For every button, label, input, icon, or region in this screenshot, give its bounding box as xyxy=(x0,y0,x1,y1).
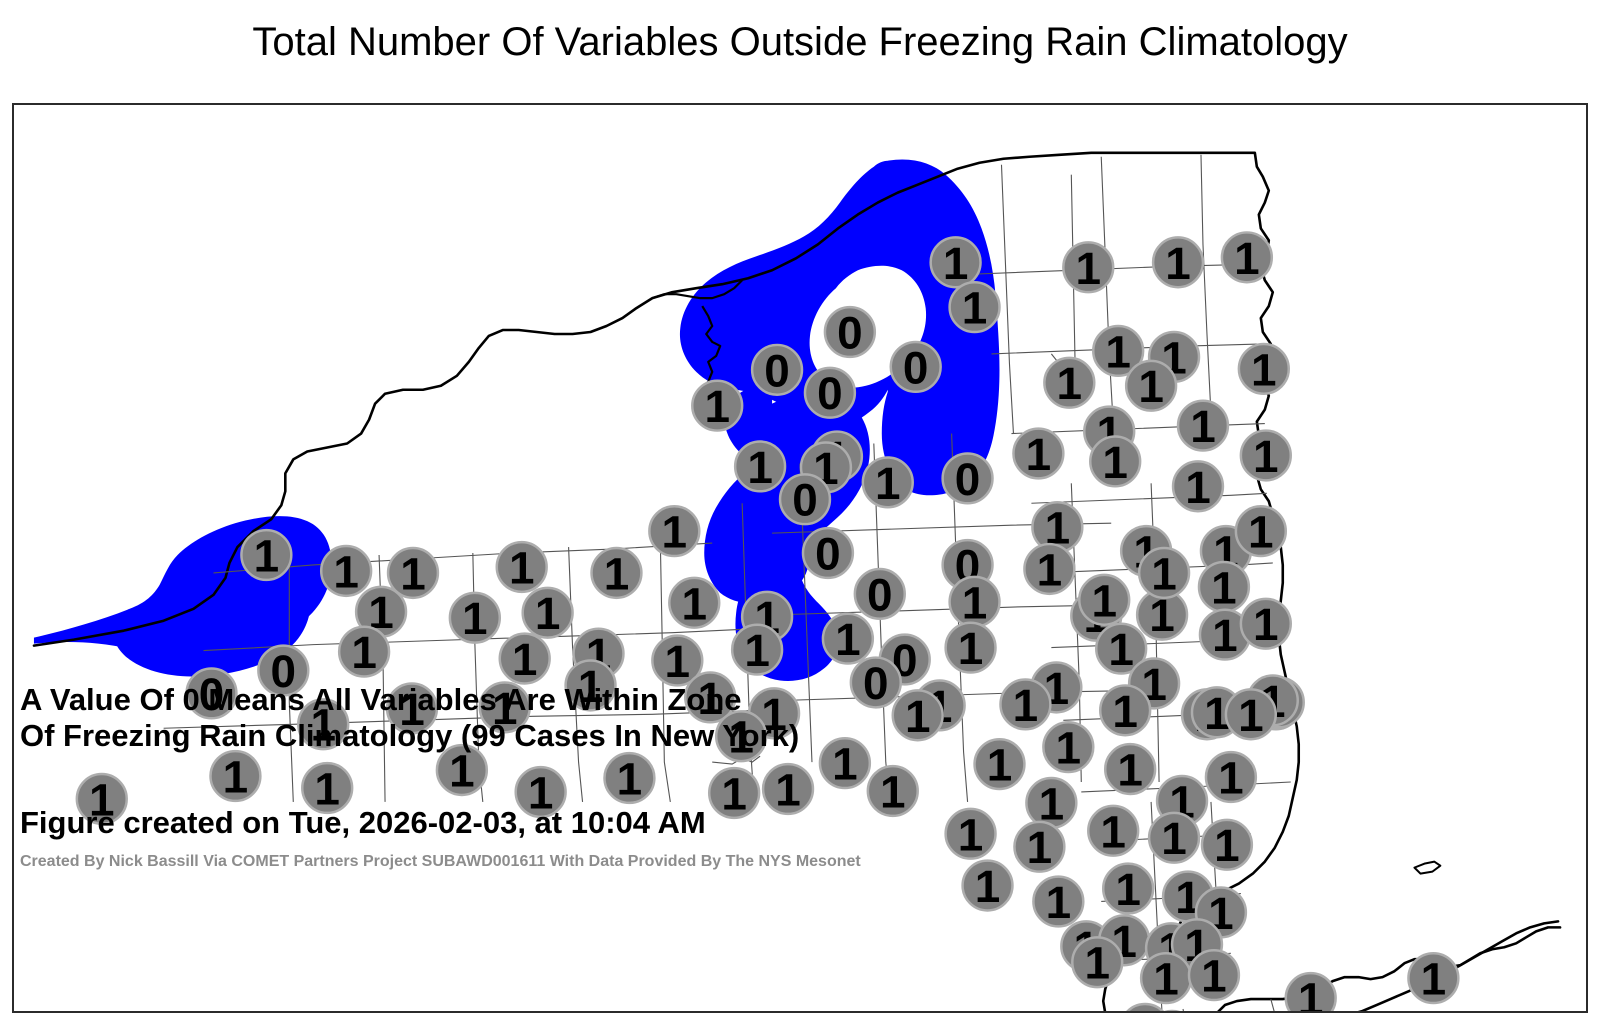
station-marker-circle xyxy=(805,368,855,418)
station-marker-circle xyxy=(1226,689,1276,739)
station-marker: 1 xyxy=(1206,752,1256,803)
station-marker-circle xyxy=(1088,806,1138,856)
station-marker-circle xyxy=(1100,685,1150,735)
station-marker-circle xyxy=(1013,429,1063,479)
station-marker-circle xyxy=(851,658,901,708)
station-marker-circle xyxy=(1063,242,1113,292)
station-marker: 1 xyxy=(732,625,782,676)
station-marker: 1 xyxy=(1014,822,1064,873)
station-marker: 1 xyxy=(823,614,873,665)
station-marker-circle xyxy=(931,237,981,287)
station-marker-circle xyxy=(891,342,941,392)
station-marker: 1 xyxy=(1126,361,1176,412)
station-marker-circle xyxy=(1014,822,1064,872)
station-marker-circle xyxy=(339,627,389,677)
station-marker-circle xyxy=(604,753,654,803)
station-marker: 0 xyxy=(855,569,905,620)
station-marker-circle xyxy=(950,577,1000,627)
station-marker: 1 xyxy=(1236,506,1286,557)
station-marker-circle xyxy=(321,546,371,596)
station-marker: 0 xyxy=(805,368,855,419)
station-marker-circle xyxy=(946,809,996,859)
station-marker-circle xyxy=(1236,506,1286,556)
station-marker-circle xyxy=(1090,437,1140,487)
legend-note-line-1: A Value Of 0 Means All Variables Are Wit… xyxy=(20,682,742,719)
credit-attribution: Created By Nick Bassill Via COMET Partne… xyxy=(20,853,861,871)
station-marker: 1 xyxy=(1153,237,1203,288)
page-title: Total Number Of Variables Outside Freezi… xyxy=(0,20,1600,65)
station-marker: 1 xyxy=(497,542,547,593)
station-marker: 1 xyxy=(868,766,918,817)
station-marker-circle xyxy=(863,457,913,507)
station-marker: 1 xyxy=(950,577,1000,628)
station-marker: 1 xyxy=(1241,599,1291,650)
station-marker-circle xyxy=(950,282,1000,332)
station-marker: 1 xyxy=(450,593,500,644)
station-marker: 1 xyxy=(975,739,1025,790)
station-marker-circle xyxy=(1199,562,1249,612)
station-marker-circle xyxy=(1126,361,1176,411)
station-marker-circle xyxy=(780,474,830,524)
station-marker-circle xyxy=(1044,358,1094,408)
station-marker-circle xyxy=(1222,232,1272,282)
station-marker-circle xyxy=(1178,401,1228,451)
station-marker: 1 xyxy=(1105,744,1155,795)
station-marker: 1 xyxy=(1199,562,1249,613)
station-marker: 1 xyxy=(946,809,996,860)
station-marker-circle xyxy=(825,307,875,357)
station-marker-circle xyxy=(963,861,1013,911)
station-marker: 1 xyxy=(500,634,550,685)
station-marker-circle xyxy=(649,506,699,556)
station-marker-circle xyxy=(1026,778,1076,828)
legend-note-line-2: Of Freezing Rain Climatology (99 Cases I… xyxy=(20,718,799,755)
station-marker: 1 xyxy=(1189,950,1239,1001)
station-marker: 1 xyxy=(339,627,389,678)
station-marker-circle xyxy=(500,634,550,684)
station-marker: 1 xyxy=(1149,813,1199,864)
long-island-forks xyxy=(1414,862,1440,874)
station-marker-circle xyxy=(1241,599,1291,649)
station-marker: 1 xyxy=(321,546,371,597)
station-marker-circle xyxy=(1408,953,1458,1003)
station-marker-circle xyxy=(1286,973,1336,1011)
station-marker: 1 xyxy=(1033,877,1083,928)
station-marker-circle xyxy=(1202,820,1252,870)
station-marker: 1 xyxy=(820,738,870,789)
station-marker-circle xyxy=(497,542,547,592)
station-marker: 1 xyxy=(592,548,642,599)
new-york-state-map: 1111111111110000111110111111110000100111… xyxy=(14,105,1586,1011)
station-marker-circle xyxy=(1189,950,1239,1000)
station-marker-circle xyxy=(735,442,785,492)
station-marker: 1 xyxy=(950,282,1000,333)
station-marker-circle xyxy=(820,738,870,788)
station-marker: 1 xyxy=(1202,820,1252,871)
station-marker: 1 xyxy=(604,753,654,804)
station-marker: 1 xyxy=(211,751,261,802)
station-marker-circle xyxy=(1105,744,1155,794)
station-marker: 1 xyxy=(1000,679,1050,730)
station-marker: 1 xyxy=(946,623,996,674)
station-marker: 1 xyxy=(692,381,742,432)
station-marker: 1 xyxy=(1100,685,1150,736)
station-marker: 1 xyxy=(1239,344,1289,395)
station-marker: 1 xyxy=(893,690,943,741)
station-marker: 0 xyxy=(943,453,993,504)
station-marker: 1 xyxy=(1139,548,1189,599)
station-marker-circle xyxy=(1072,937,1122,987)
station-marker-circle xyxy=(1120,1004,1170,1011)
station-marker: 1 xyxy=(1222,232,1272,283)
station-marker-circle xyxy=(1000,679,1050,729)
figure-created-timestamp: Figure created on Tue, 2026-02-03, at 10… xyxy=(20,805,706,842)
station-marker-circle xyxy=(592,548,642,598)
station-marker: 0 xyxy=(851,658,901,709)
station-marker-circle xyxy=(1024,544,1074,594)
station-marker-circle xyxy=(692,381,742,431)
station-marker: 1 xyxy=(1178,401,1228,452)
station-marker: 0 xyxy=(803,528,853,579)
station-marker: 1 xyxy=(1241,431,1291,482)
station-marker: 1 xyxy=(763,764,813,815)
station-marker: 1 xyxy=(735,442,785,493)
map-panel: 1111111111110000111110111111110000100111… xyxy=(12,103,1588,1013)
station-marker-circle xyxy=(523,588,573,638)
station-marker: 1 xyxy=(1286,973,1336,1011)
station-marker-circle xyxy=(1079,575,1129,625)
station-marker-circle xyxy=(763,764,813,814)
station-marker: 1 xyxy=(1072,937,1122,988)
station-marker: 1 xyxy=(669,578,719,629)
figure-page: Total Number Of Variables Outside Freezi… xyxy=(0,0,1600,1020)
station-marker: 1 xyxy=(241,530,291,581)
station-marker-circle xyxy=(943,453,993,503)
station-marker: 1 xyxy=(1120,1004,1170,1011)
station-marker-circle xyxy=(1239,344,1289,394)
station-marker-circle xyxy=(823,614,873,664)
station-marker-circle xyxy=(1241,431,1291,481)
station-marker: 1 xyxy=(1013,429,1063,480)
station-marker: 1 xyxy=(709,768,759,819)
station-marker: 1 xyxy=(1024,544,1074,595)
station-marker: 1 xyxy=(1090,437,1140,488)
station-marker-circle xyxy=(1139,548,1189,598)
station-marker: 0 xyxy=(752,345,802,396)
station-marker-circle xyxy=(893,690,943,740)
station-marker: 0 xyxy=(891,342,941,393)
station-marker: 1 xyxy=(1043,722,1093,773)
station-marker-circle xyxy=(1149,813,1199,863)
station-marker-circle xyxy=(211,751,261,801)
station-marker-circle xyxy=(1103,864,1153,914)
station-marker: 1 xyxy=(1079,575,1129,626)
station-marker-circle xyxy=(868,766,918,816)
station-marker-circle xyxy=(450,593,500,643)
station-marker: 1 xyxy=(1044,358,1094,409)
station-marker: 0 xyxy=(825,307,875,358)
station-marker-circle xyxy=(1033,877,1083,927)
station-marker-circle xyxy=(1206,752,1256,802)
station-marker-circle xyxy=(732,625,782,675)
station-marker-circle xyxy=(1043,722,1093,772)
station-marker: 1 xyxy=(1173,461,1223,512)
station-marker-circle xyxy=(975,739,1025,789)
station-marker: 1 xyxy=(649,506,699,557)
station-marker: 1 xyxy=(863,457,913,508)
station-marker: 1 xyxy=(1141,953,1191,1004)
station-marker-circle xyxy=(241,530,291,580)
station-marker: 0 xyxy=(780,474,830,525)
station-marker: 1 xyxy=(1408,953,1458,1004)
station-marker-circle xyxy=(669,578,719,628)
station-marker-circle xyxy=(1173,461,1223,511)
station-marker: 1 xyxy=(1088,806,1138,857)
station-marker-circle xyxy=(946,623,996,673)
station-marker-circle xyxy=(752,345,802,395)
station-marker-circle xyxy=(709,768,759,818)
station-marker: 1 xyxy=(1063,242,1113,293)
station-marker-circle xyxy=(1141,953,1191,1003)
station-marker: 1 xyxy=(1103,864,1153,915)
station-marker: 1 xyxy=(963,861,1013,912)
station-marker-circle xyxy=(803,528,853,578)
station-marker-circle xyxy=(855,569,905,619)
contour-regions xyxy=(34,160,1000,681)
station-marker: 1 xyxy=(1226,689,1276,740)
station-marker: 1 xyxy=(523,588,573,639)
station-marker-circle xyxy=(1153,237,1203,287)
